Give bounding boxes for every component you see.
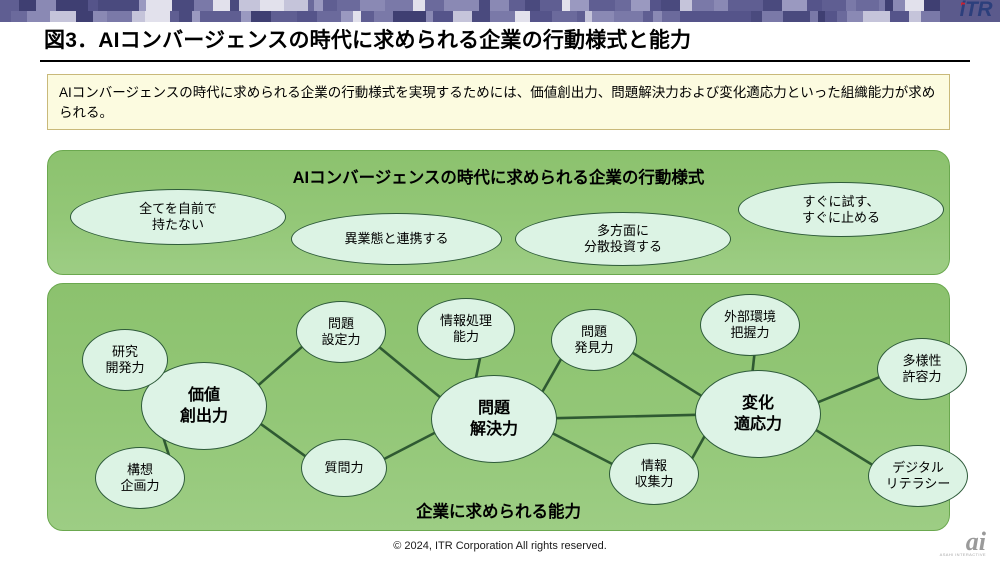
- copyright-footer: © 2024, ITR Corporation All rights reser…: [0, 540, 1000, 552]
- capability-node-label: 問題 解決力: [470, 398, 518, 440]
- edge-infogather-change: [692, 435, 705, 459]
- capability-node-infogather: 情報 収集力: [609, 443, 699, 505]
- capability-node-label: 構想 企画力: [120, 462, 159, 494]
- top-mosaic-band: iTR: [0, 0, 1000, 22]
- capability-node-label: 多様性 許容力: [902, 353, 941, 385]
- capability-node-problem: 問題 解決力: [431, 375, 557, 463]
- edge-setting-value: [258, 346, 303, 385]
- capability-node-diversity: 多様性 許容力: [877, 338, 967, 400]
- behavior-ellipse-label: すぐに試す、 すぐに止める: [802, 194, 880, 226]
- behavior-ellipse-label: 多方面に 分散投資する: [584, 223, 662, 255]
- capability-node-infoproc: 情報処理 能力: [417, 298, 515, 360]
- capability-node-digital: デジタル リテラシー: [868, 445, 968, 507]
- description-box: AIコンバージェンスの時代に求められる企業の行動様式を実現するためには、価値創出…: [47, 74, 950, 130]
- mosaic-pattern: [0, 0, 940, 22]
- behavior-ellipse-3: すぐに試す、 すぐに止める: [738, 182, 944, 237]
- capability-node-label: 価値 創出力: [180, 385, 228, 427]
- behavior-ellipse-0: 全てを自前で 持たない: [70, 189, 286, 245]
- capability-node-label: 情報処理 能力: [440, 313, 492, 345]
- edge-diversity-change: [817, 377, 880, 403]
- edge-discover-problem: [542, 359, 561, 393]
- capability-node-external: 外部環境 把握力: [700, 294, 800, 356]
- capability-panel: 価値 創出力問題 解決力変化 適応力研究 開発力構想 企画力問題 設定力質問力情…: [47, 283, 950, 531]
- edge-digital-change: [815, 429, 873, 465]
- capability-node-question: 質問力: [301, 439, 387, 497]
- edge-question-value: [260, 423, 306, 456]
- edge-setting-problem: [379, 347, 441, 398]
- edge-external-change: [753, 355, 755, 372]
- capability-node-discover: 問題 発見力: [551, 309, 637, 371]
- edge-discover-change: [632, 352, 702, 396]
- capability-node-label: デジタル リテラシー: [886, 460, 951, 492]
- capability-node-label: 問題 発見力: [574, 324, 613, 356]
- capability-node-change: 変化 適応力: [695, 370, 821, 458]
- itr-logo-text: iTR: [959, 0, 992, 21]
- edge-question-problem: [384, 432, 436, 459]
- capability-node-label: 質問力: [324, 460, 363, 476]
- capability-node-label: 問題 設定力: [321, 316, 360, 348]
- capability-node-setting: 問題 設定力: [296, 301, 386, 363]
- capability-node-label: 変化 適応力: [734, 393, 782, 435]
- capability-node-plan: 構想 企画力: [95, 447, 185, 509]
- ai-logo-subtext: ASAHI INTERACTIVE: [940, 552, 986, 557]
- itr-logo: iTR: [959, 0, 992, 21]
- behavior-ellipse-label: 全てを自前で 持たない: [139, 201, 217, 233]
- title-divider: [40, 60, 970, 62]
- capability-node-label: 外部環境 把握力: [724, 309, 776, 341]
- capability-panel-heading: 企業に求められる能力: [48, 498, 949, 522]
- capability-node-label: 研究 開発力: [105, 344, 144, 376]
- page-title: 図3．AIコンバージェンスの時代に求められる企業の行動様式と能力: [44, 24, 691, 54]
- behavior-panel: AIコンバージェンスの時代に求められる企業の行動様式 全てを自前で 持たない異業…: [47, 150, 950, 275]
- capability-node-rd: 研究 開発力: [82, 329, 168, 391]
- behavior-ellipse-1: 異業態と連携する: [291, 213, 502, 265]
- description-text: AIコンバージェンスの時代に求められる企業の行動様式を実現するためには、価値創出…: [59, 83, 938, 123]
- behavior-ellipse-2: 多方面に 分散投資する: [515, 212, 731, 266]
- edge-infogather-problem: [552, 433, 613, 464]
- capability-node-label: 情報 収集力: [634, 458, 673, 490]
- behavior-ellipse-label: 異業態と連携する: [344, 231, 448, 247]
- edge-problem-change: [555, 415, 697, 418]
